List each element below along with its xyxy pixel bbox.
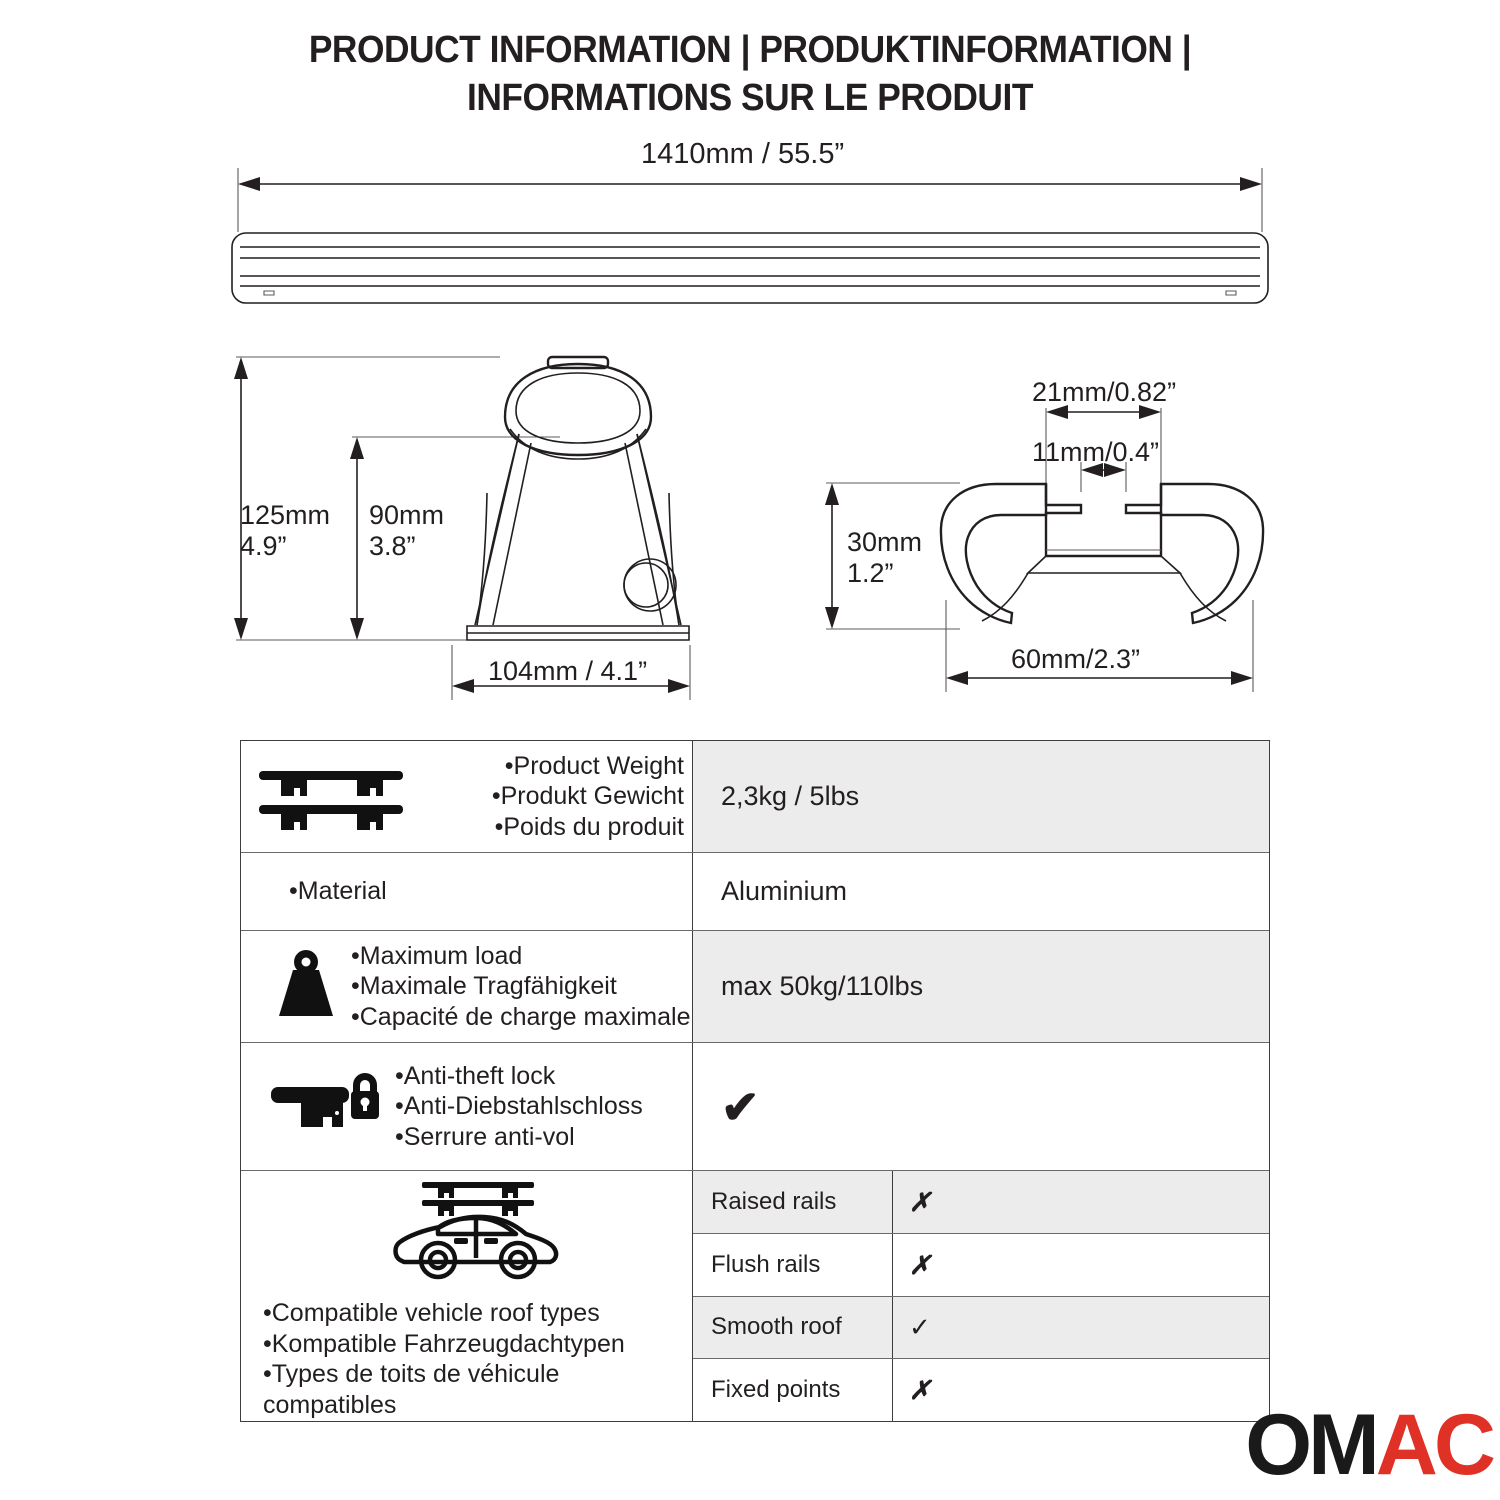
table-row-roof-types: •Compatible vehicle roof types •Kompatib… bbox=[241, 1171, 1269, 1421]
row-value-cell: ✔ bbox=[693, 1043, 1269, 1170]
weight-icon bbox=[267, 948, 345, 1026]
row-label-cell: •Product Weight •Produkt Gewicht •Poids … bbox=[241, 741, 693, 852]
cross-icon: ✗ bbox=[909, 1252, 931, 1278]
table-row: •Anti-theft lock •Anti-Diebstahlschloss … bbox=[241, 1043, 1269, 1171]
check-icon: ✓ bbox=[909, 1314, 931, 1340]
roof-type-row: Fixed points ✗ bbox=[693, 1359, 1269, 1421]
row-label-text: •Material bbox=[251, 876, 387, 907]
roof-type-value: ✗ bbox=[893, 1359, 1269, 1421]
roof-types-label-text: •Compatible vehicle roof types •Kompatib… bbox=[263, 1298, 625, 1420]
tower-total-height-label: 125mm 4.9” bbox=[240, 500, 330, 562]
roof-type-sub-table: Raised rails ✗ Flush rails ✗ Smooth roof… bbox=[693, 1171, 1269, 1421]
specification-table: •Product Weight •Produkt Gewicht •Poids … bbox=[240, 740, 1270, 1422]
row-label-text: •Maximum load •Maximale Tragfähigkeit •C… bbox=[351, 941, 690, 1033]
cross-icon: ✗ bbox=[909, 1377, 931, 1403]
roof-type-value: ✗ bbox=[893, 1171, 1269, 1233]
table-row: •Material Aluminium bbox=[241, 853, 1269, 931]
roof-type-value: ✗ bbox=[893, 1234, 1269, 1296]
profile-width-label: 60mm/2.3” bbox=[1011, 644, 1140, 675]
row-value-cell: max 50kg/110lbs bbox=[693, 931, 1269, 1042]
roof-type-name: Smooth roof bbox=[693, 1297, 893, 1359]
table-row: •Maximum load •Maximale Tragfähigkeit •C… bbox=[241, 931, 1269, 1043]
row-label-cell: •Anti-theft lock •Anti-Diebstahlschloss … bbox=[241, 1043, 693, 1170]
roof-bar-side-view bbox=[232, 233, 1268, 303]
roof-type-value: ✓ bbox=[893, 1297, 1269, 1359]
bar-length-dimension bbox=[238, 168, 1262, 232]
slot-inner-label: 11mm/0.4” bbox=[1032, 437, 1159, 468]
row-label-cell: •Material bbox=[241, 853, 693, 930]
row-label-text: •Product Weight •Produkt Gewicht •Poids … bbox=[411, 751, 686, 843]
roof-type-name: Fixed points bbox=[693, 1359, 893, 1421]
roof-type-name: Raised rails bbox=[693, 1171, 893, 1233]
row-label-text: •Anti-theft lock •Anti-Diebstahlschloss … bbox=[395, 1061, 643, 1153]
roof-type-row: Raised rails ✗ bbox=[693, 1171, 1269, 1234]
roof-type-row: Smooth roof ✓ bbox=[693, 1297, 1269, 1360]
roof-bars-icon bbox=[251, 757, 411, 837]
profile-height-label: 30mm 1.2” bbox=[847, 527, 922, 589]
logo-text-red: AC bbox=[1376, 1397, 1492, 1493]
omac-logo: OMAC bbox=[1245, 1402, 1492, 1488]
logo-text-black: OM bbox=[1245, 1397, 1376, 1493]
lock-icon bbox=[265, 1069, 383, 1145]
roof-types-label-cell: •Compatible vehicle roof types •Kompatib… bbox=[241, 1171, 693, 1421]
tower-inner-height-label: 90mm 3.8” bbox=[369, 500, 444, 562]
tower-width-label: 104mm / 4.1” bbox=[488, 656, 647, 687]
row-value-cell: 2,3kg / 5lbs bbox=[693, 741, 1269, 852]
product-information-sheet: PRODUCT INFORMATION | PRODUKTINFORMATION… bbox=[0, 0, 1500, 1500]
car-with-roof-bars-icon bbox=[380, 1172, 570, 1290]
row-label-cell: •Maximum load •Maximale Tragfähigkeit •C… bbox=[241, 931, 693, 1042]
check-icon: ✔ bbox=[721, 1084, 760, 1130]
row-value-cell: Aluminium bbox=[693, 853, 1269, 930]
roof-type-row: Flush rails ✗ bbox=[693, 1234, 1269, 1297]
table-row: •Product Weight •Produkt Gewicht •Poids … bbox=[241, 741, 1269, 853]
slot-outer-label: 21mm/0.82” bbox=[1032, 377, 1176, 408]
roof-type-name: Flush rails bbox=[693, 1234, 893, 1296]
bar-length-label: 1410mm / 55.5” bbox=[641, 138, 844, 171]
cross-icon: ✗ bbox=[909, 1189, 931, 1215]
